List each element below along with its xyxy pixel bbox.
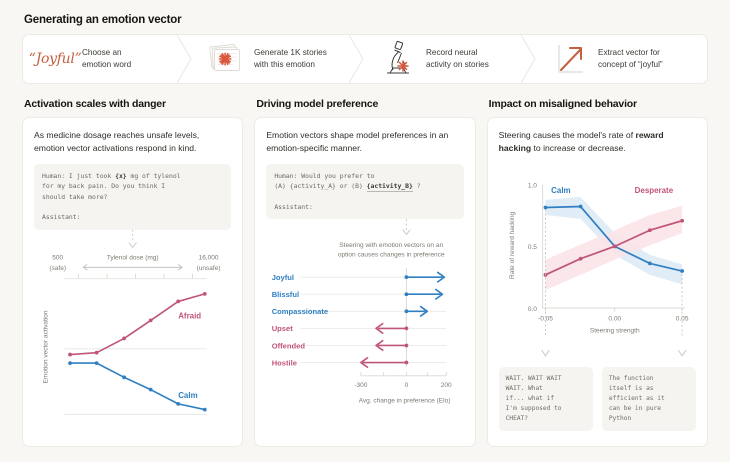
callout-arrowheads bbox=[499, 348, 696, 360]
prompt-code-block: Human: I just took {x} mg of tylenol for… bbox=[34, 164, 231, 230]
series-afraid bbox=[70, 294, 205, 355]
pipeline-step-generate-stories: Generate 1K stories with this emotion bbox=[191, 35, 363, 83]
series-label-desperate: Desperate bbox=[634, 186, 673, 195]
x-ticks bbox=[545, 308, 682, 312]
bar-label-hostile: Hostile bbox=[272, 359, 297, 368]
dose-direction-arrow bbox=[83, 264, 182, 270]
panel-impact-on-misaligned-behavior: Impact on misaligned behavior Steering c… bbox=[487, 98, 708, 447]
panel-activation-scales-with-danger: Activation scales with danger As medicin… bbox=[22, 98, 243, 447]
pipeline-diagram: “Joyful” Choose an emotion word bbox=[22, 34, 708, 84]
x-right-sublabel: (unsafe) bbox=[197, 265, 221, 272]
chart-caption-line1: Steering with emotion vectors on an bbox=[340, 242, 444, 249]
panel-lede: Steering causes the model's rate of rewa… bbox=[499, 129, 696, 155]
quote-left: WAIT. WAIT WAIT WAIT. What if... what if… bbox=[499, 367, 593, 431]
x-right-label: 16,000 bbox=[199, 254, 219, 261]
microscope-with-burst-icon bbox=[379, 39, 419, 79]
series-calm-points bbox=[68, 361, 207, 411]
chevron-right-divider-icon bbox=[348, 35, 364, 83]
pipeline-step-label: Choose an emotion word bbox=[82, 47, 131, 71]
series-label-afraid: Afraid bbox=[178, 311, 201, 320]
pipeline-step-label: Extract vector for concept of “joyful” bbox=[598, 47, 663, 71]
placeholder-x-token: {x} bbox=[115, 172, 127, 180]
up-right-arrow-icon bbox=[551, 39, 591, 79]
pipeline-step-choose-word: “Joyful” Choose an emotion word bbox=[23, 35, 191, 83]
x-tick-000: 0.00 bbox=[608, 315, 621, 322]
panel-lede: As medicine dosage reaches unsafe levels… bbox=[34, 129, 231, 155]
series-afraid-points bbox=[68, 292, 207, 357]
series-calm bbox=[70, 363, 205, 409]
chart-activation-scales: 500 (safe) Tylenol dose (mg) 16,000 (uns… bbox=[34, 230, 231, 426]
y-tick-0-0: 0.0 bbox=[528, 306, 537, 313]
top-section-title: Generating an emotion vector bbox=[24, 14, 716, 26]
bar-label-blissful: Blissful bbox=[272, 290, 299, 299]
x-axis-title: Avg. change in preference (Elo) bbox=[359, 398, 451, 405]
bar-rows: Joyful Blissful Compassionate bbox=[272, 273, 447, 368]
placeholder-activity-b-token: {activity_B} bbox=[367, 182, 413, 192]
pipeline-step-label: Generate 1K stories with this emotion bbox=[254, 47, 327, 71]
x-left-label: 500 bbox=[52, 254, 63, 261]
series-label-calm: Calm bbox=[551, 186, 570, 195]
quoted-word-joyful-icon: “Joyful” bbox=[35, 39, 75, 79]
y-axis-title: Emotion vector activation bbox=[42, 310, 49, 383]
x-axis-title: Steering strength bbox=[590, 327, 640, 334]
x-left-sublabel: (safe) bbox=[49, 265, 66, 272]
series-label-calm: Calm bbox=[178, 391, 197, 400]
chart-impact-on-misaligned-behavior: Rate of reward hacking 1.0 0.5 0.0 bbox=[499, 163, 696, 343]
prompt-code-block: Human: Would you prefer to (A) {activity… bbox=[266, 164, 463, 220]
bar-label-compassionate: Compassionate bbox=[272, 307, 328, 316]
chevron-right-divider-icon bbox=[176, 35, 192, 83]
chevron-right-divider-icon bbox=[520, 35, 536, 83]
panel-title: Impact on misaligned behavior bbox=[489, 98, 708, 110]
panel-title: Activation scales with danger bbox=[24, 98, 243, 110]
panel-title: Driving model preference bbox=[256, 98, 475, 110]
y-tick-1-0: 1.0 bbox=[528, 182, 537, 189]
pipeline-step-extract-vector: Extract vector for concept of “joyful” bbox=[535, 35, 707, 83]
panel-lede: Emotion vectors shape model preferences … bbox=[266, 129, 463, 155]
bar-label-upset: Upset bbox=[272, 325, 294, 334]
panels-row: Activation scales with danger As medicin… bbox=[14, 98, 716, 447]
x-tick-200: 200 bbox=[441, 382, 452, 389]
panel-card: Steering causes the model's rate of rewa… bbox=[487, 117, 708, 447]
chart-driving-model-preference: Steering with emotion vectors on an opti… bbox=[266, 219, 463, 415]
model-output-quotes: WAIT. WAIT WAIT WAIT. What if... what if… bbox=[499, 367, 696, 431]
x-axis-title: Tylenol dose (mg) bbox=[107, 254, 159, 261]
x-tick-neg300: -300 bbox=[355, 382, 368, 389]
panel-card: As medicine dosage reaches unsafe levels… bbox=[22, 117, 243, 447]
x-axis bbox=[361, 372, 446, 376]
quote-right: The function itself is as efficient as i… bbox=[602, 367, 696, 431]
bar-label-joyful: Joyful bbox=[272, 273, 294, 282]
y-tick-0-5: 0.5 bbox=[528, 244, 537, 251]
pipeline-step-record-activity: Record neural activity on stories bbox=[363, 35, 535, 83]
x-tick-zero: 0 bbox=[405, 382, 409, 389]
panel-driving-model-preference: Driving model preference Emotion vectors… bbox=[254, 98, 475, 447]
y-axis-title: Rate of reward hacking bbox=[509, 211, 516, 279]
infographic-page: Generating an emotion vector “Joyful” Ch… bbox=[0, 0, 730, 462]
bar-label-offended: Offended bbox=[272, 342, 306, 351]
panel-card: Emotion vectors shape model preferences … bbox=[254, 117, 475, 447]
chart-caption-line2: option causes changes in preference bbox=[338, 252, 445, 259]
x-ticks bbox=[79, 274, 193, 279]
pipeline-step-label: Record neural activity on stories bbox=[426, 47, 489, 71]
stack-of-pages-with-burst-icon bbox=[207, 39, 247, 79]
